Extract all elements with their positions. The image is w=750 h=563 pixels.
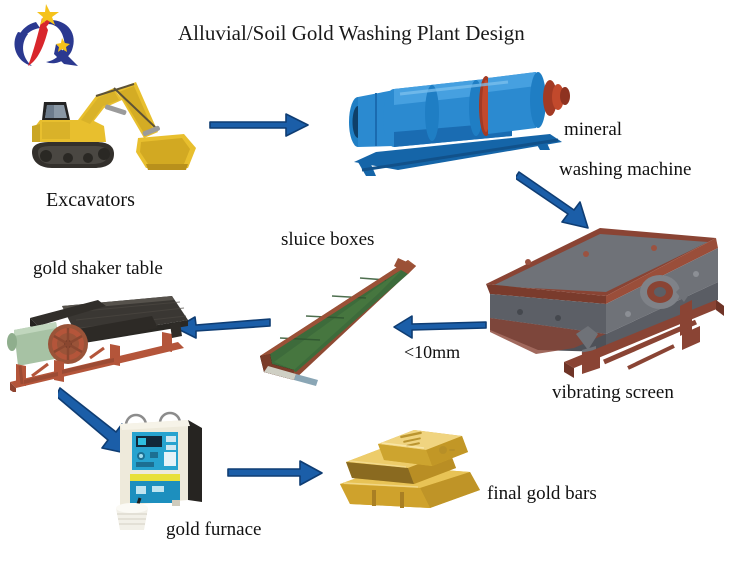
gold-bars-image [330, 424, 490, 520]
page-title: Alluvial/Soil Gold Washing Plant Design [178, 20, 525, 46]
gold-furnace-image [110, 406, 215, 532]
label-gold-furnace: gold furnace [166, 518, 261, 542]
arrow-excavator-to-washer [208, 108, 312, 147]
sluice-box-image [258, 252, 418, 392]
label-final-gold-bars: final gold bars [487, 482, 597, 506]
label-mineral: mineral [564, 118, 622, 142]
label-gold-shaker-table: gold shaker table [33, 257, 163, 281]
jq-company-logo [6, 4, 84, 74]
diagram-canvas: Alluvial/Soil Gold Washing Plant Design [0, 0, 750, 563]
excavator-image [18, 76, 208, 188]
vibrating-screen-image [478, 222, 740, 380]
arrow-furnace-to-goldbars [226, 456, 326, 495]
shaker-table-image [2, 276, 192, 392]
label-vibrating-screen: vibrating screen [552, 381, 674, 405]
label-excavators: Excavators [46, 188, 135, 213]
label-sluice-boxes: sluice boxes [281, 228, 374, 252]
